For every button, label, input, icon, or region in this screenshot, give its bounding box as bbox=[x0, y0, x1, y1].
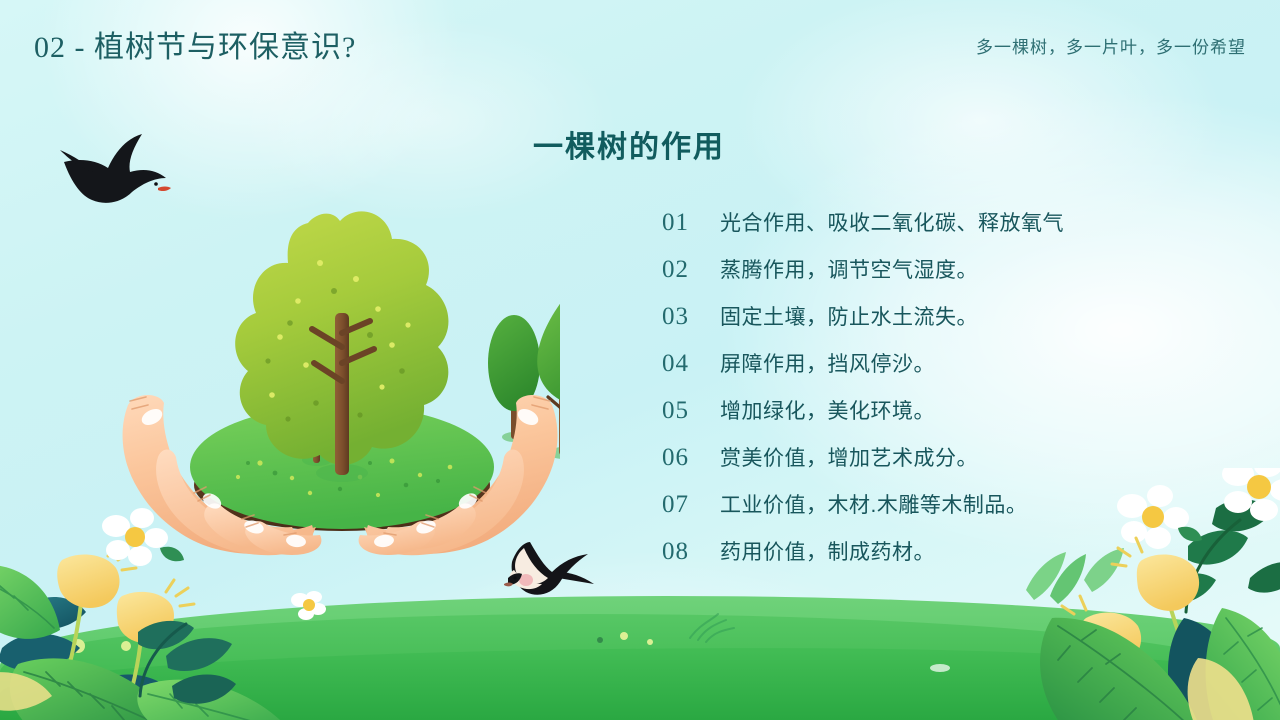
list-item: 06 赏美价值，增加艺术成分。 bbox=[662, 442, 1222, 489]
white-daisy-slope bbox=[288, 588, 328, 622]
list-item-number: 03 bbox=[662, 303, 720, 331]
list-item-number: 01 bbox=[662, 209, 720, 237]
list-item-number: 02 bbox=[662, 256, 720, 284]
list-item-number: 07 bbox=[662, 491, 720, 519]
foliage-bottom-left bbox=[0, 500, 320, 720]
list-item: 08 药用价值，制成药材。 bbox=[662, 536, 1222, 583]
list-item-text: 屏障作用，挡风停沙。 bbox=[720, 348, 935, 378]
slide-tagline: 多一棵树，多一片叶，多一份希望 bbox=[976, 33, 1246, 58]
list-item: 01 光合作用、吸收二氧化碳、释放氧气 bbox=[662, 207, 1222, 254]
list-item-text: 工业价值，木材.木雕等木制品。 bbox=[720, 489, 1027, 519]
section-heading: 一棵树的作用 bbox=[533, 122, 725, 166]
list-item-number: 08 bbox=[662, 538, 720, 566]
list-item-text: 光合作用、吸收二氧化碳、释放氧气 bbox=[720, 207, 1064, 237]
list-item: 05 增加绿化，美化环境。 bbox=[662, 395, 1222, 442]
list-item: 02 蒸腾作用，调节空气湿度。 bbox=[662, 254, 1222, 301]
list-item: 07 工业价值，木材.木雕等木制品。 bbox=[662, 489, 1222, 536]
list-item-text: 增加绿化，美化环境。 bbox=[720, 395, 935, 425]
benefits-list: 01 光合作用、吸收二氧化碳、释放氧气 02 蒸腾作用，调节空气湿度。 03 固… bbox=[662, 207, 1222, 583]
list-item-number: 06 bbox=[662, 444, 720, 472]
list-item-number: 04 bbox=[662, 350, 720, 378]
page-title: 02 - 植树节与环保意识? bbox=[34, 22, 356, 66]
list-item-number: 05 bbox=[662, 397, 720, 425]
list-item-text: 固定土壤，防止水土流失。 bbox=[720, 301, 978, 331]
list-item-text: 蒸腾作用，调节空气湿度。 bbox=[720, 254, 978, 284]
list-item-text: 赏美价值，增加艺术成分。 bbox=[720, 442, 978, 472]
white-daisy-left bbox=[102, 508, 184, 566]
list-item-text: 药用价值，制成药材。 bbox=[720, 536, 935, 566]
list-item: 03 固定土壤，防止水土流失。 bbox=[662, 301, 1222, 348]
slide-canvas: 02 - 植树节与环保意识? 多一棵树，多一片叶，多一份希望 bbox=[0, 0, 1280, 720]
swallow-silhouette-icon bbox=[58, 132, 178, 218]
list-item: 04 屏障作用，挡风停沙。 bbox=[662, 348, 1222, 395]
